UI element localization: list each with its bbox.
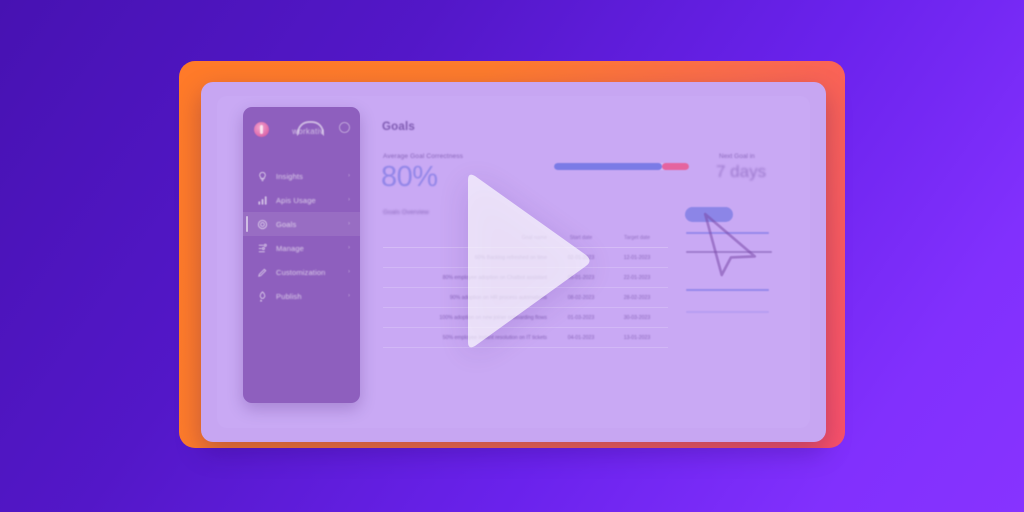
mouse-pointer-icon (698, 211, 764, 277)
sidebar-item-apis-usage[interactable]: Apis Usage › (243, 188, 360, 212)
sidebar-item-label: Apis Usage (276, 196, 316, 205)
chevron-right-icon: › (348, 245, 350, 251)
cell-target: 28-02-2023 (609, 295, 665, 301)
column-header-target: Target date (609, 235, 665, 241)
next-goal-value: 7 days (716, 162, 766, 182)
kpi-label: Average Goal Correctness (383, 153, 463, 160)
progress-fill (554, 163, 662, 170)
page-title: Goals (382, 121, 415, 133)
kpi-value: 80% (381, 161, 438, 194)
video-thumbnail-stage: workativ Insights › Apis Usage › (0, 0, 1024, 512)
chevron-right-icon: › (348, 269, 350, 275)
sliders-icon (257, 243, 268, 254)
sidebar-item-manage[interactable]: Manage › (243, 236, 360, 260)
brand-logo: workativ (282, 121, 334, 137)
sidebar-item-customization[interactable]: Customization › (243, 260, 360, 284)
sidebar-item-label: Goals (276, 220, 296, 229)
cell-target: 12-01-2023 (609, 255, 665, 261)
sidebar-item-label: Manage (276, 244, 304, 253)
chevron-right-icon: › (348, 197, 350, 203)
user-avatar-icon[interactable] (254, 122, 269, 137)
next-goal-label: Next Goal in (719, 153, 755, 160)
target-icon (257, 219, 268, 230)
brand-logo-text: workativ (282, 127, 334, 136)
play-button[interactable] (460, 170, 592, 352)
gear-icon[interactable] (339, 122, 350, 133)
widget-line (686, 289, 769, 291)
chevron-right-icon: › (348, 221, 350, 227)
widget-line (686, 311, 769, 313)
sidebar-item-publish[interactable]: Publish › (243, 284, 360, 308)
table-title: Goals Overview (383, 209, 429, 216)
sidebar-item-label: Publish (276, 292, 302, 301)
app-sidebar[interactable]: workativ Insights › Apis Usage › (243, 107, 360, 403)
sidebar-item-insights[interactable]: Insights › (243, 164, 360, 188)
chevron-right-icon: › (348, 173, 350, 179)
sidebar-item-label: Insights (276, 172, 303, 181)
sidebar-item-label: Customization (276, 268, 325, 277)
goal-progress-bar (554, 163, 689, 170)
bar-chart-icon (257, 195, 268, 206)
rocket-icon (257, 291, 268, 302)
side-widget (684, 203, 784, 328)
cell-target: 22-01-2023 (609, 275, 665, 281)
chevron-right-icon: › (348, 293, 350, 299)
cell-target: 13-01-2023 (609, 335, 665, 341)
progress-remainder (662, 163, 689, 170)
lightbulb-icon (257, 171, 268, 182)
sidebar-item-goals[interactable]: Goals › (243, 212, 360, 236)
cell-target: 30-03-2023 (609, 315, 665, 321)
pencil-icon (257, 267, 268, 278)
